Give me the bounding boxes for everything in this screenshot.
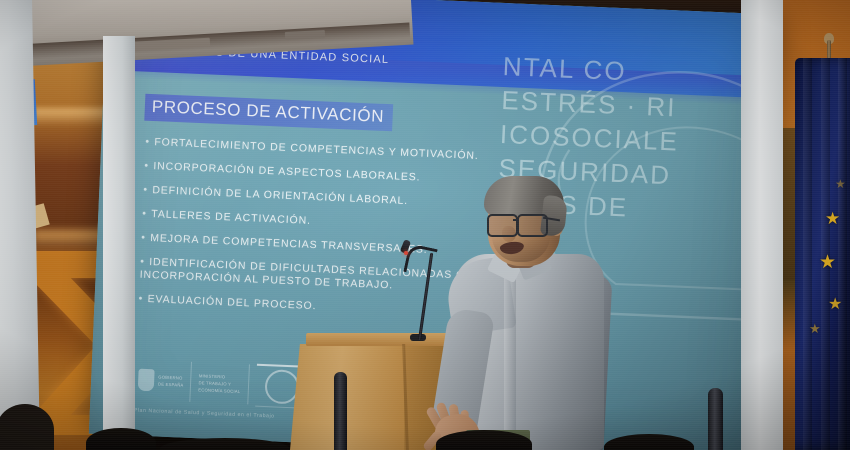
- foreground-post-left: [334, 372, 347, 450]
- foreground-post-right: [708, 388, 723, 450]
- ministry-logo-block: MINISTERIO DE TRABAJO Y ECONOMÍA SOCIAL: [191, 362, 250, 404]
- audience-silhouette: [86, 428, 156, 450]
- bullet-text: INCORPORACIÓN DE ASPECTOS LABORALES.: [153, 160, 421, 183]
- logo-line: GOBIERNO: [158, 375, 184, 381]
- coat-of-arms-icon: [138, 369, 155, 392]
- logo-line: DE TRABAJO Y: [199, 380, 241, 387]
- ring-icon: [264, 369, 299, 404]
- flag-star-icon: ★: [828, 296, 842, 313]
- logo-line: DE ESPAÑA: [158, 382, 184, 388]
- government-logo-block: GOBIERNO DE ESPAÑA: [130, 359, 192, 402]
- flag-star-icon: ★: [819, 254, 836, 271]
- logo-line: ECONOMÍA SOCIAL: [198, 387, 240, 394]
- eyeglasses-left-lens: [487, 214, 518, 237]
- microphone-status-led: [404, 251, 408, 255]
- wall-pillar-right: [741, 0, 783, 450]
- ministry-logo-text: MINISTERIO DE TRABAJO Y ECONOMÍA SOCIAL: [198, 373, 241, 394]
- wall-pillar-center: [103, 36, 135, 450]
- speaker-person: [430, 178, 620, 450]
- shirt-placket: [504, 274, 516, 450]
- logo-line: MINISTERIO: [199, 373, 241, 380]
- eyeglasses-bridge: [513, 219, 519, 221]
- flag-star-icon: ★: [825, 210, 840, 227]
- european-union-flag: ★ ★ ★ ★ ★: [795, 58, 850, 450]
- flag-star-icon: ★: [809, 320, 821, 337]
- bullet-text: EVALUACIÓN DEL PROCESO.: [147, 293, 316, 312]
- government-logo-text: GOBIERNO DE ESPAÑA: [158, 375, 184, 388]
- wall-light-glow: [33, 108, 110, 126]
- photo-canvas: ∑ NTAL CO ESTRÉS · RI ICOSOCIALE SEGURID…: [0, 0, 850, 450]
- bullet-text: MEJORA DE COMPETENCIAS TRANSVERSALES.: [150, 232, 428, 256]
- bullet-text: DEFINICIÓN DE LA ORIENTACIÓN LABORAL.: [152, 184, 408, 207]
- flag-star-icon: ★: [835, 176, 846, 193]
- bullet-text: TALLERES DE ACTIVACIÓN.: [151, 208, 311, 227]
